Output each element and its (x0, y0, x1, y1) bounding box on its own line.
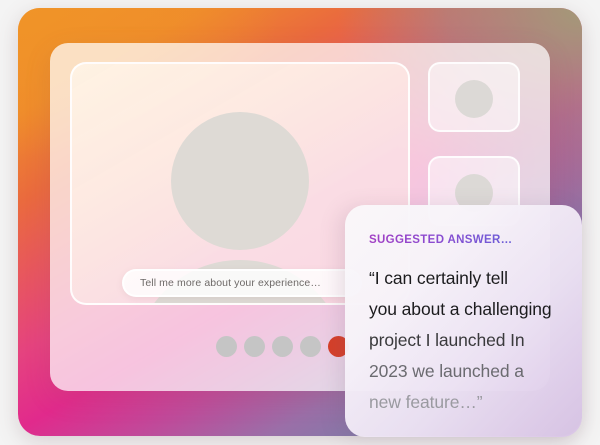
control-dot-camera[interactable] (244, 336, 265, 357)
answer-line: new feature…” (369, 387, 569, 418)
answer-line: “I can certainly tell (369, 263, 569, 294)
call-control-bar (216, 336, 349, 357)
control-dot-share[interactable] (272, 336, 293, 357)
suggested-answer-label: SUGGESTED ANSWER… (369, 234, 513, 246)
interview-question-text: Tell me more about your experience… (140, 277, 321, 289)
avatar-head-shape (171, 112, 309, 250)
suggested-answer-text: “I can certainly tell you about a challe… (369, 263, 569, 418)
control-dot-mic[interactable] (216, 336, 237, 357)
answer-line: 2023 we launched a (369, 356, 569, 387)
answer-line: you about a challenging (369, 294, 569, 325)
participant-tile-1[interactable] (428, 62, 520, 132)
control-dot-more[interactable] (300, 336, 321, 357)
answer-line: project I launched In (369, 325, 569, 356)
participant-avatar-icon (455, 80, 493, 118)
interview-question-caption[interactable]: Tell me more about your experience… (122, 269, 362, 297)
suggested-answer-panel[interactable]: SUGGESTED ANSWER… “I can certainly tell … (345, 205, 582, 437)
